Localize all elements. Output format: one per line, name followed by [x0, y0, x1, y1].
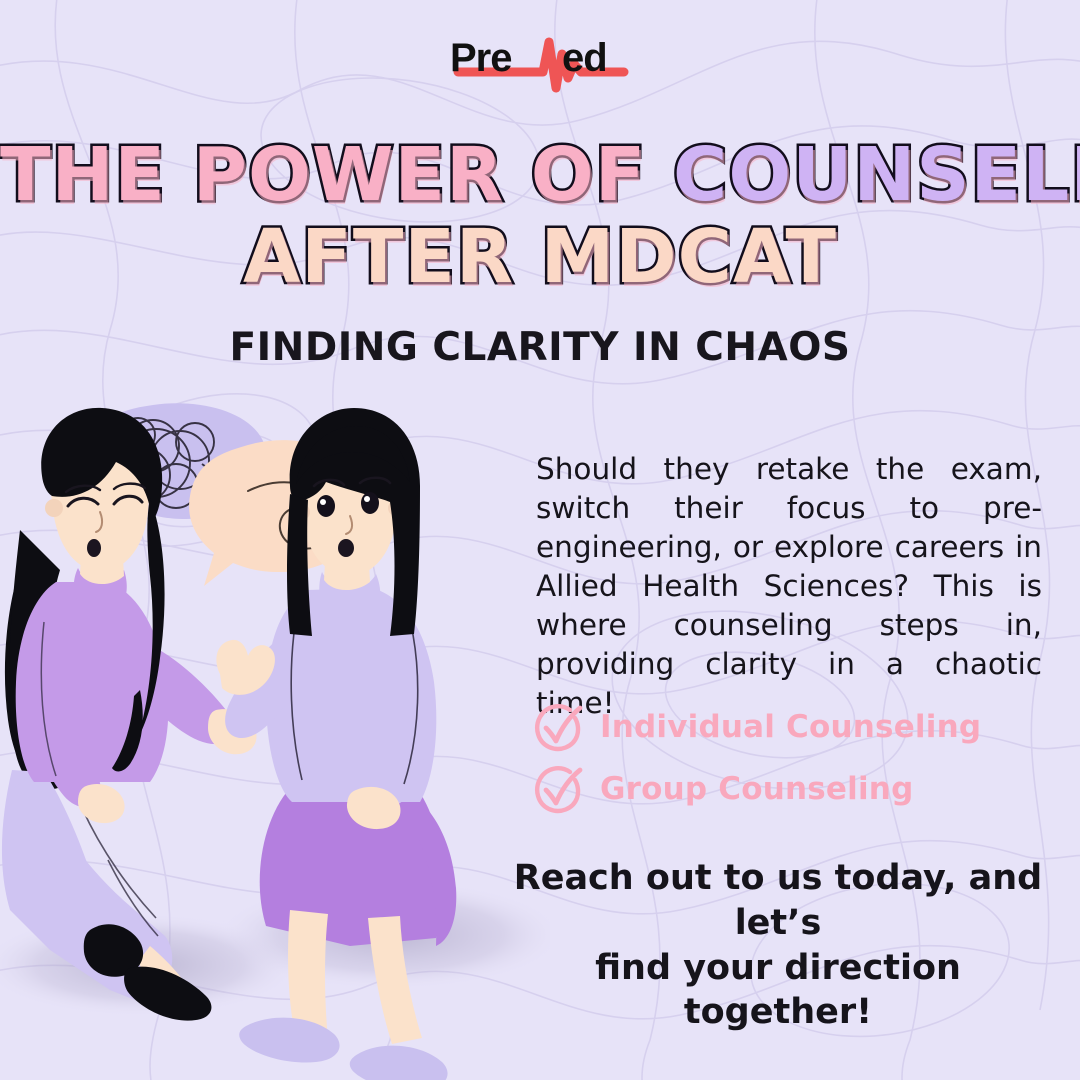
brand-logo: Pre ed	[0, 26, 1080, 98]
checklist: Individual Counseling Group Counseling	[530, 696, 1050, 820]
left-ear	[45, 499, 63, 517]
check-circle-icon	[530, 763, 586, 815]
cta-line-1: Reach out to us today, and let’s	[500, 856, 1056, 946]
checklist-label: Individual Counseling	[600, 709, 981, 745]
headline-part-counseling: COUNSELING	[673, 140, 1080, 210]
left-hand-2	[78, 784, 125, 823]
headline-part-after-mdcat: AFTER MDCAT	[243, 222, 837, 292]
two-women-counseling-session-illustration	[0, 390, 550, 1080]
right-shoe-back	[350, 1046, 448, 1080]
checklist-label: Group Counseling	[600, 771, 913, 807]
call-to-action: Reach out to us today, and let’s find yo…	[500, 856, 1056, 1035]
logo-text-ed: ed	[562, 38, 607, 78]
check-circle-icon	[530, 701, 586, 753]
left-mouth	[87, 539, 101, 557]
page-title: THE POWER OF COUNSELING AFTER MDCAT	[0, 140, 1080, 293]
right-eye-left	[317, 495, 335, 517]
right-mouth	[338, 539, 354, 557]
cta-line-2: find your direction together!	[500, 946, 1056, 1036]
right-eye-right	[361, 492, 379, 514]
headline-part-power: THE POWER OF	[0, 140, 646, 210]
logo-text-pre: Pre	[450, 38, 512, 78]
page-subtitle: FINDING CLARITY IN CHAOS	[0, 325, 1080, 370]
list-item[interactable]: Group Counseling	[530, 758, 1050, 820]
list-item[interactable]: Individual Counseling	[530, 696, 1050, 758]
body-paragraph: Should they retake the exam, switch thei…	[536, 450, 1042, 723]
